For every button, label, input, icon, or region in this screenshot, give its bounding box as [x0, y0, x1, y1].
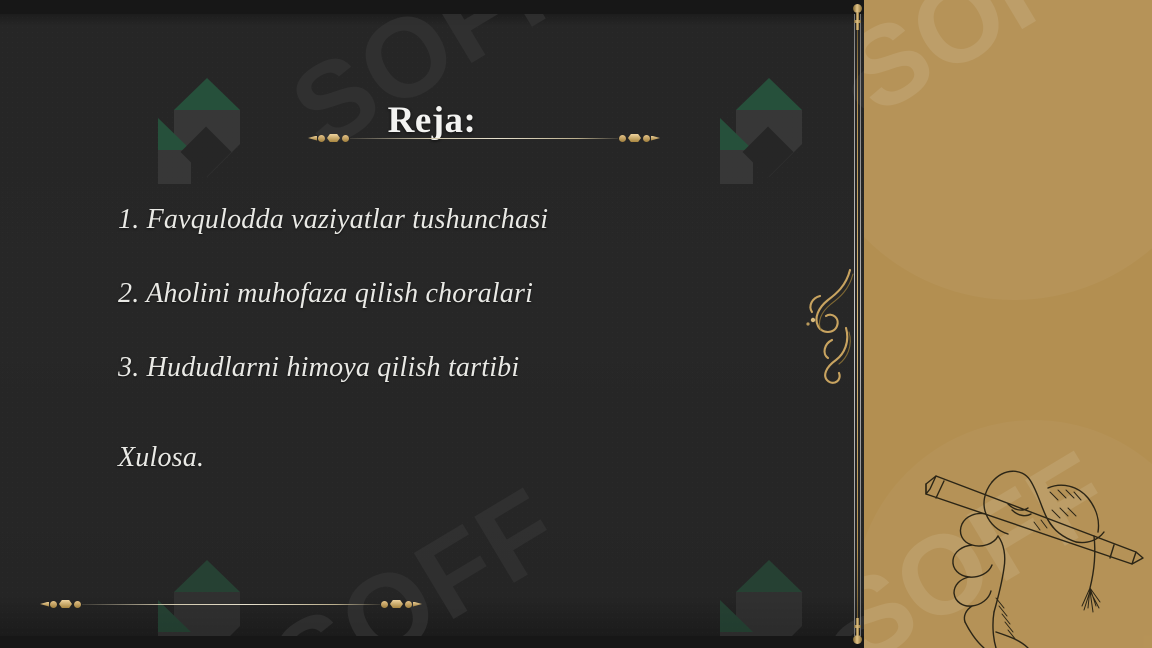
- divider-top-cap: [853, 4, 862, 30]
- agenda-list: 1. Favqulodda vaziyatlar tushunchasi 2. …: [118, 206, 818, 472]
- ornament-right-tip: [651, 136, 660, 141]
- title-ornament-rule: [308, 134, 660, 142]
- ornament-left-tip: [308, 136, 317, 141]
- ornament-spindle: [59, 600, 72, 608]
- bottom-black-bar: [0, 636, 864, 648]
- ornament-bead: [381, 601, 388, 608]
- list-item: 2. Aholini muhofaza qilish choralari: [118, 280, 818, 308]
- list-item: 3. Hududlarni himoya qilish tartibi: [118, 354, 818, 382]
- divider-line-silver-inner: [860, 0, 861, 648]
- ornament-bead: [405, 601, 412, 608]
- ornament-line: [350, 138, 618, 139]
- ornament-spindle: [390, 600, 403, 608]
- ornament-spindle: [628, 134, 641, 142]
- ornament-bead: [619, 135, 626, 142]
- hand-holding-pencil-illustration: [900, 448, 1152, 648]
- gold-side-panel: SOFF SOFF: [864, 0, 1152, 648]
- ornament-line: [82, 604, 380, 605]
- ornament-bead: [318, 135, 325, 142]
- divider-bottom-cap: [853, 618, 862, 644]
- list-item: 1. Favqulodda vaziyatlar tushunchasi: [118, 206, 818, 234]
- ornament-bead: [74, 601, 81, 608]
- list-item: Xulosa.: [118, 444, 818, 472]
- ornament-right-tip: [413, 602, 422, 607]
- ornament-spindle: [327, 134, 340, 142]
- bottom-ornament-rule: [40, 600, 422, 608]
- gold-scroll-flourish-icon: [806, 268, 860, 384]
- top-black-bar: [0, 0, 864, 14]
- presentation-slide: SOFF SOFF SOFF SOFF SOFF SOFF: [0, 0, 1152, 648]
- ornament-bead: [643, 135, 650, 142]
- ornament-bead: [342, 135, 349, 142]
- ornament-left-tip: [40, 602, 49, 607]
- ornament-bead: [50, 601, 57, 608]
- watermark-text: SOFF: [864, 0, 1146, 139]
